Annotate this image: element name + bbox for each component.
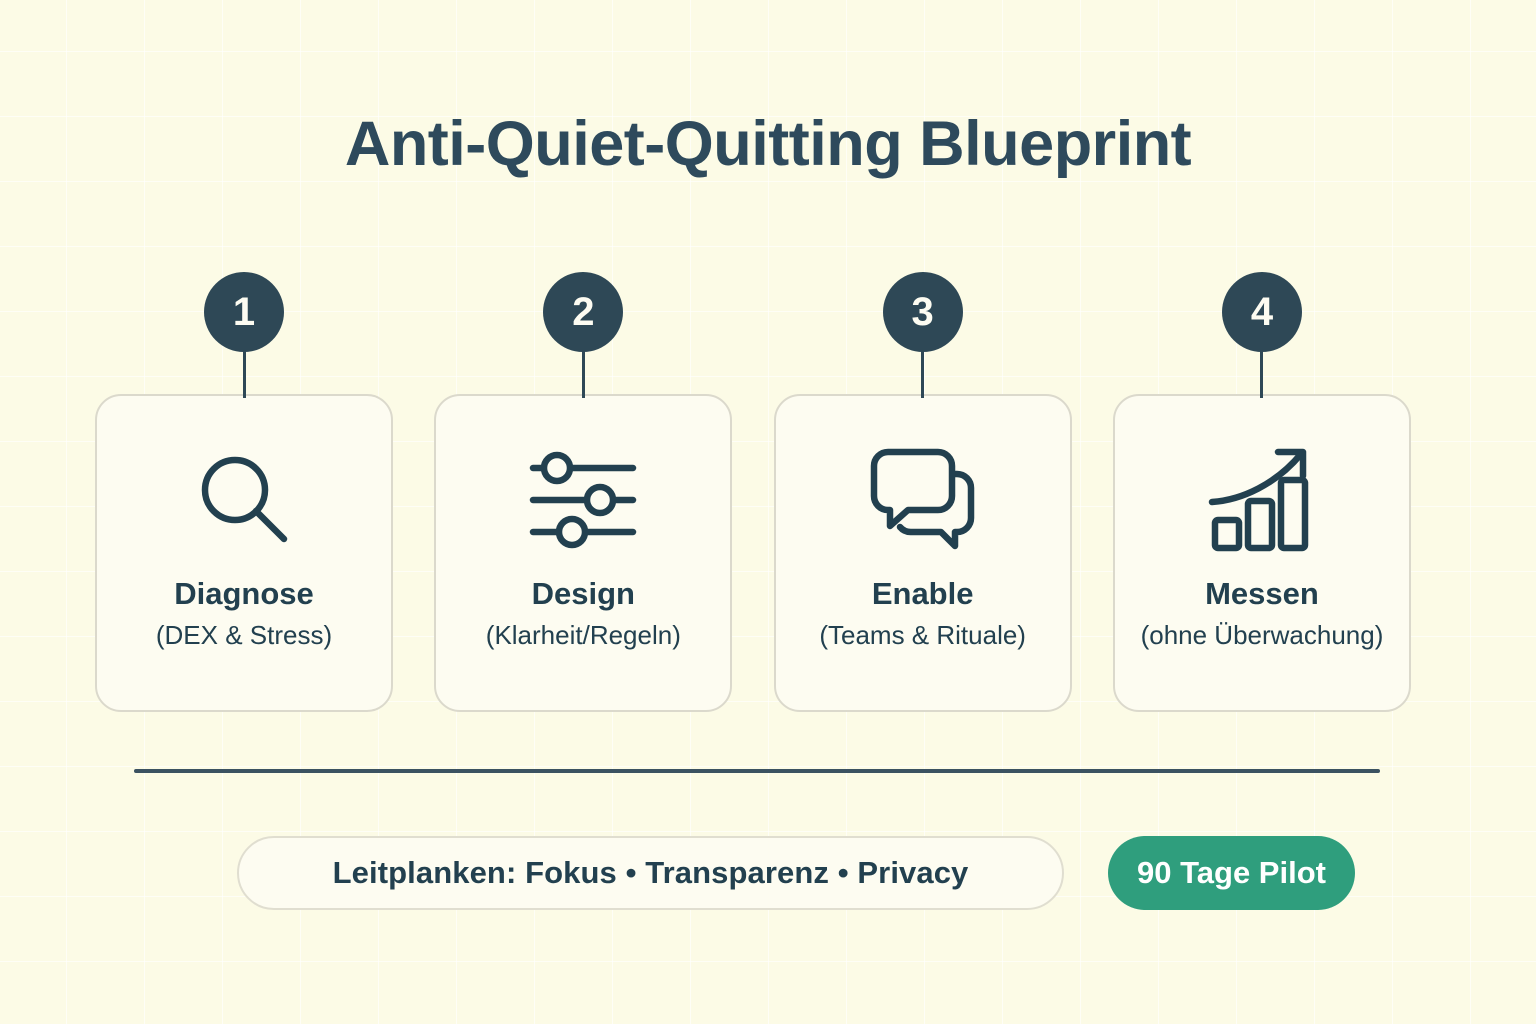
- pilot-badge[interactable]: 90 Tage Pilot: [1108, 836, 1355, 910]
- step-title-3: Enable: [872, 578, 974, 611]
- step-title-4: Messen: [1205, 578, 1319, 611]
- infographic-canvas: Anti-Quiet-Quitting Blueprint 1 Diagnose…: [0, 0, 1536, 1024]
- step-card-4[interactable]: 4 Messen (ohne Überwachung): [1113, 272, 1411, 712]
- step-badge-wrap-2: 2: [434, 272, 732, 394]
- guardrails-pill: Leitplanken: Fokus • Transparenz • Priva…: [237, 836, 1064, 910]
- step-card-body-4[interactable]: Messen (ohne Überwachung): [1113, 394, 1411, 712]
- step-badge-wrap-1: 1: [95, 272, 393, 394]
- step-subtitle-1: (DEX & Stress): [156, 621, 332, 650]
- sliders-icon: [527, 444, 639, 556]
- step-number-badge-3: 3: [883, 272, 963, 352]
- step-card-body-3[interactable]: Enable (Teams & Rituale): [774, 394, 1072, 712]
- step-badge-wrap-4: 4: [1113, 272, 1411, 394]
- step-title-1: Diagnose: [174, 578, 314, 611]
- chat-bubbles-icon: [867, 444, 979, 556]
- step-connector-line-1: [243, 346, 246, 398]
- step-subtitle-4: (ohne Überwachung): [1141, 621, 1384, 650]
- step-number-badge-4: 4: [1222, 272, 1302, 352]
- step-card-2[interactable]: 2 Design (Klarheit/Regeln): [434, 272, 732, 712]
- step-connector-line-2: [582, 346, 585, 398]
- step-card-body-2[interactable]: Design (Klarheit/Regeln): [434, 394, 732, 712]
- step-badge-wrap-3: 3: [774, 272, 1072, 394]
- steps-row: 1 Diagnose (DEX & Stress) 2: [95, 272, 1411, 712]
- step-card-3[interactable]: 3 Enable (Teams & Rituale): [774, 272, 1072, 712]
- step-number-badge-1: 1: [204, 272, 284, 352]
- section-divider: [134, 769, 1380, 773]
- footer-row: Leitplanken: Fokus • Transparenz • Priva…: [237, 836, 1355, 910]
- step-number-badge-2: 2: [543, 272, 623, 352]
- step-card-1[interactable]: 1 Diagnose (DEX & Stress): [95, 272, 393, 712]
- magnifier-icon: [188, 444, 300, 556]
- step-connector-line-3: [921, 346, 924, 398]
- step-subtitle-2: (Klarheit/Regeln): [486, 621, 681, 650]
- growth-chart-icon: [1206, 444, 1318, 556]
- step-card-body-1[interactable]: Diagnose (DEX & Stress): [95, 394, 393, 712]
- step-connector-line-4: [1260, 346, 1263, 398]
- step-title-2: Design: [532, 578, 635, 611]
- page-title: Anti-Quiet-Quitting Blueprint: [0, 108, 1536, 180]
- step-subtitle-3: (Teams & Rituale): [819, 621, 1026, 650]
